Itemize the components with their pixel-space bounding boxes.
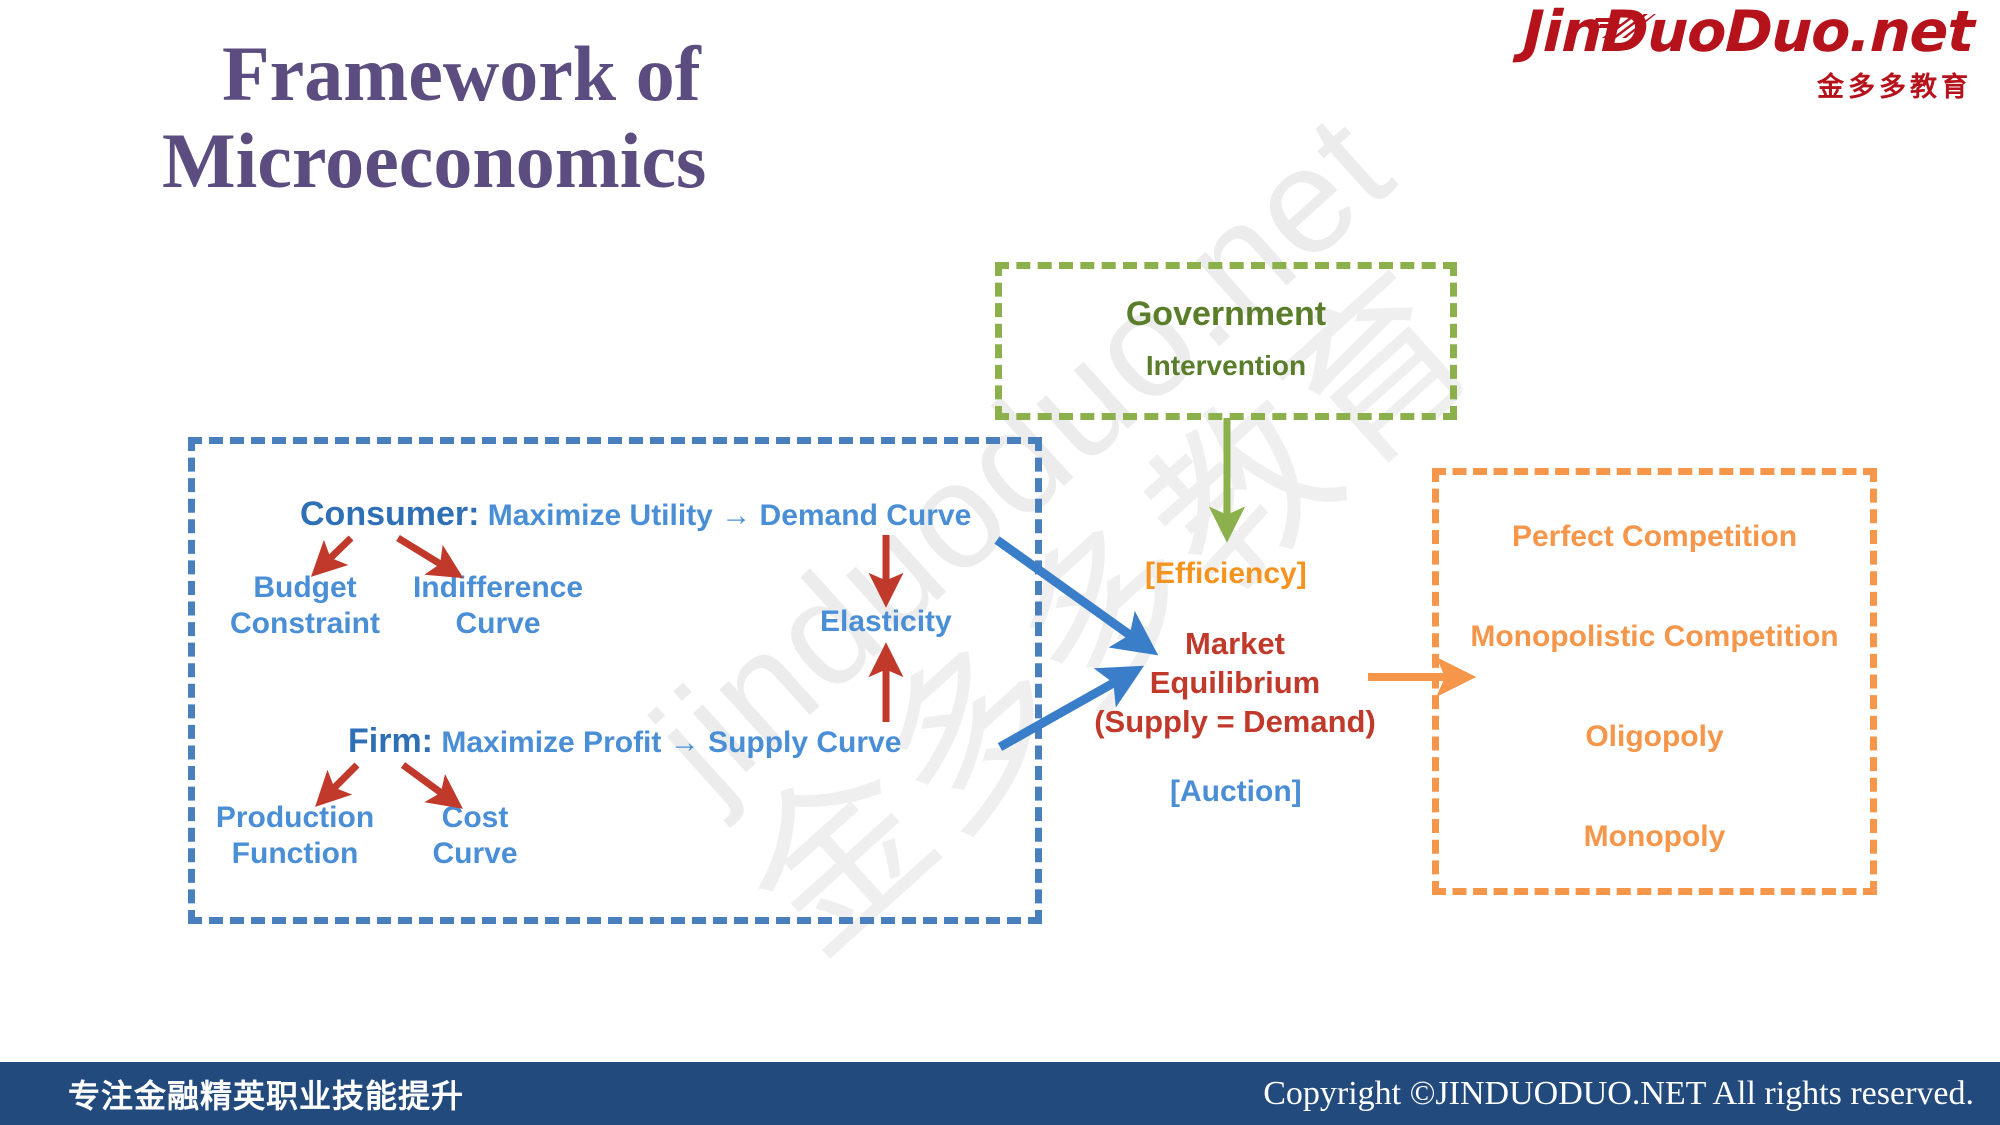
firm-row: Firm: Maximize Profit → Supply Curve bbox=[348, 722, 901, 761]
market-equilibrium-label: Market Equilibrium (Supply = Demand) bbox=[1090, 625, 1380, 741]
market-structure-item-monopolistic-competition: Monopolistic Competition bbox=[1432, 620, 1877, 654]
indifference-curve-line1: Indifference bbox=[398, 570, 598, 606]
indifference-curve-line2: Curve bbox=[398, 606, 598, 642]
consumer-label: Consumer: bbox=[300, 495, 479, 533]
page-title-line2: Microeconomics bbox=[162, 117, 706, 204]
auction-label: [Auction] bbox=[1170, 775, 1302, 809]
footer-copyright: Copyright ©JINDUODUO.NET All rights rese… bbox=[1263, 1075, 1974, 1113]
market-structure-item-oligopoly: Oligopoly bbox=[1432, 720, 1877, 754]
efficiency-label: [Efficiency] bbox=[1145, 557, 1307, 591]
page-title: Framework of Microeconomics bbox=[222, 30, 706, 205]
consumer-row: Consumer: Maximize Utility → Demand Curv… bbox=[300, 495, 971, 534]
elasticity-label: Elasticity bbox=[820, 605, 952, 639]
footer-slogan: 专注金融精英职业技能提升 bbox=[68, 1071, 464, 1117]
logo-wordmark: JinDuoDuo.net bbox=[1522, 4, 1975, 61]
government-intervention-box bbox=[995, 262, 1457, 420]
slide-root: jinduoduo.net 金多多教育 JinDuoDuo.net 金多多教育 … bbox=[0, 0, 2000, 1125]
market-structure-item-perfect-competition: Perfect Competition bbox=[1432, 520, 1877, 554]
consumer-row-rest: Maximize Utility → Demand Curve bbox=[479, 499, 971, 532]
indifference-curve-label: Indifference Curve bbox=[398, 570, 598, 642]
production-function-line2: Function bbox=[205, 836, 385, 872]
firm-row-rest: Maximize Profit → Supply Curve bbox=[433, 726, 901, 759]
market-equilibrium-line1: Market bbox=[1090, 625, 1380, 664]
production-function-label: Production Function bbox=[205, 800, 385, 872]
market-structure-item-monopoly: Monopoly bbox=[1432, 820, 1877, 854]
government-subtitle: Intervention bbox=[995, 350, 1457, 382]
cost-curve-label: Cost Curve bbox=[415, 800, 535, 872]
footer-bar: 专注金融精英职业技能提升 Copyright ©JINDUODUO.NET Al… bbox=[0, 1062, 2000, 1125]
budget-constraint-line1: Budget bbox=[225, 570, 385, 606]
brand-logo[interactable]: JinDuoDuo.net 金多多教育 bbox=[1523, 4, 1974, 104]
budget-constraint-line2: Constraint bbox=[225, 606, 385, 642]
firm-label: Firm: bbox=[348, 722, 433, 760]
cost-curve-line2: Curve bbox=[415, 836, 535, 872]
page-title-line1: Framework of bbox=[222, 30, 706, 117]
production-function-line1: Production bbox=[205, 800, 385, 836]
logo-chinese: 金多多教育 bbox=[1523, 65, 1972, 104]
market-equilibrium-line3: (Supply = Demand) bbox=[1090, 703, 1380, 742]
budget-constraint-label: Budget Constraint bbox=[225, 570, 385, 642]
government-title: Government bbox=[995, 295, 1457, 334]
market-equilibrium-line2: Equilibrium bbox=[1090, 664, 1380, 703]
cost-curve-line1: Cost bbox=[415, 800, 535, 836]
